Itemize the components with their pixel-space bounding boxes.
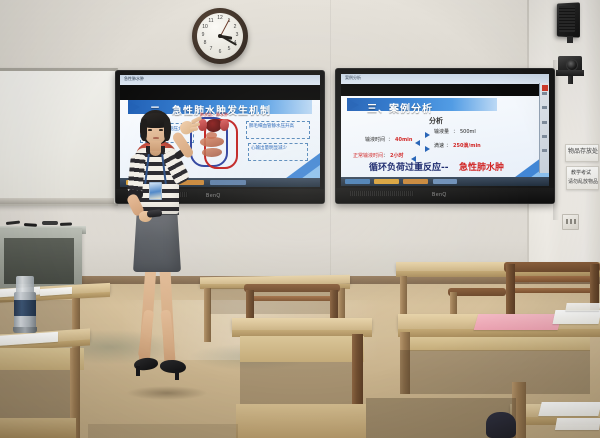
whiteboard-marker[interactable]	[60, 222, 72, 226]
outlet-slot	[570, 219, 572, 224]
id-badge	[149, 182, 162, 200]
clock-numeral: 7	[207, 47, 215, 52]
whiteboard[interactable]	[0, 68, 118, 206]
right-bullet-sep-1: ：	[446, 144, 451, 149]
clock-numeral: 12	[216, 16, 224, 21]
under-desk-shadow	[88, 424, 238, 438]
clock-numeral: 5	[225, 47, 233, 52]
desk-center-lower-top	[236, 404, 366, 438]
media-icon[interactable]	[210, 180, 246, 185]
left-display-brand: BenQ	[206, 193, 221, 199]
notice-sign-body: 教学考试 请勿乱放物品	[566, 166, 599, 190]
right-slide-subheading: 分析	[429, 118, 443, 125]
presenter	[118, 110, 208, 400]
bullet-arrow-icon	[425, 132, 430, 138]
desk-under-shadow	[0, 370, 70, 418]
slide-title-arrow-icon	[349, 100, 359, 110]
select-tool-icon[interactable]	[542, 135, 548, 138]
speaker-bracket	[567, 36, 573, 43]
slide-topbar-label: 案例分析	[345, 75, 361, 81]
paper-sheet[interactable]	[555, 418, 600, 430]
chair-leg	[450, 292, 457, 316]
chair-slat	[246, 296, 338, 301]
right-slide-title: 三、案例分析	[367, 100, 433, 115]
close-icon[interactable]	[542, 85, 548, 91]
right-bullet-label-1: 滴速	[434, 144, 444, 149]
clock-numeral: 10	[201, 25, 209, 30]
right-display-screen[interactable]: 案例分析 三、案例分析 分析 输液量 ： 500ml 滴速 ： 250滴/min…	[341, 74, 549, 186]
desk-left-lower-top	[0, 418, 76, 438]
upper-wall-band	[0, 0, 600, 68]
classroom-photo: 12 1 2 3 4 5 6 7 8 9 10 11 物品存放处 教学考试 请勿…	[0, 0, 600, 438]
start-icon[interactable]	[345, 179, 370, 184]
slide-topbar-label: 急性肺水肿	[124, 76, 144, 82]
bullet-arrow-icon	[411, 156, 416, 162]
right-display-speaker-bar	[350, 191, 414, 196]
chair-slat	[506, 276, 598, 282]
paper-sheet[interactable]	[565, 303, 600, 311]
right-left-item-sep-0: ：	[388, 138, 393, 143]
presenter-shoe-heel-left	[136, 366, 140, 376]
whiteboard-marker-tray	[0, 198, 114, 204]
presenter-floor-shadow	[126, 386, 208, 400]
desk-leg	[400, 276, 407, 318]
notice-sign-title: 物品存放处	[565, 144, 599, 162]
pen-tool-icon[interactable]	[542, 92, 548, 95]
desk-front-panel	[400, 337, 590, 351]
wall-power-outlet[interactable]	[562, 214, 579, 230]
thermos-sleeve	[14, 300, 36, 316]
presenter-shoe-right	[160, 359, 187, 374]
right-bullet-value-0: 500ml	[460, 130, 476, 135]
right-left-item-label-0: 输液时间	[365, 138, 385, 143]
browser-icon[interactable]	[374, 179, 399, 184]
sign-text: 教学考试	[571, 171, 591, 176]
right-bullet-value-1: 250滴/min	[453, 144, 481, 149]
right-slide-tool-sidebar[interactable]	[539, 83, 549, 173]
outlet-slot	[566, 219, 568, 224]
folder-icon[interactable]	[403, 179, 428, 184]
lectern-shelf-cavity	[4, 238, 74, 284]
right-left-item-label-1: 正常输液时间	[353, 154, 383, 159]
desk-edge	[398, 329, 600, 337]
eraser-tool-icon[interactable]	[542, 106, 548, 109]
wall-corner-shadow	[553, 60, 559, 220]
chair-slat	[506, 288, 598, 293]
right-left-item-sep-1: ：	[383, 154, 388, 159]
clock-numeral: 8	[201, 41, 209, 46]
right-display-brand: BenQ	[432, 192, 447, 198]
sign-text: 物品存放处	[568, 149, 598, 155]
shape-tool-icon[interactable]	[542, 121, 548, 124]
media-icon[interactable]	[433, 179, 458, 184]
right-slide: 案例分析 三、案例分析 分析 输液量 ： 500ml 滴速 ： 250滴/min…	[341, 74, 549, 186]
presenter-finger	[190, 126, 198, 131]
right-slide-conclusion-highlight: 急性肺水肿	[459, 164, 504, 173]
clock-numeral: 9	[199, 33, 207, 38]
right-left-item-value-0: 40min	[395, 138, 412, 143]
bullet-arrow-icon	[425, 146, 430, 152]
right-display-frame[interactable]: 案例分析 三、案例分析 分析 输液量 ： 500ml 滴速 ： 250滴/min…	[335, 68, 555, 204]
eraser[interactable]	[42, 221, 58, 225]
presenter-mouth	[153, 137, 159, 139]
presenter-eye-left	[148, 129, 152, 131]
presenter-eye-right	[159, 129, 163, 131]
clock-numeral: 6	[216, 50, 224, 55]
paper-sheet[interactable]	[538, 402, 600, 416]
right-slide-conclusion-prefix: 循环负荷过重反应--	[369, 164, 448, 173]
clock-center-pin	[218, 34, 222, 38]
outlet-slot	[574, 219, 576, 224]
under-desk-shadow	[366, 398, 516, 438]
speaker-grille	[559, 6, 575, 32]
chair-center	[244, 284, 340, 292]
thermos-base	[13, 327, 37, 333]
presenter-hair-side-left	[140, 119, 147, 141]
left-slide-annotation-top-right: 肺毛细血管静水压升高	[249, 125, 294, 130]
desk-under-shadow	[240, 362, 352, 406]
presenter-hair-side-right	[164, 119, 171, 141]
slide-letterbox	[341, 84, 549, 96]
presenter-shoe-heel-right	[175, 369, 179, 380]
right-bullet-sep-0: ：	[453, 130, 458, 135]
slide-letterbox	[120, 85, 320, 100]
wall-seam	[330, 0, 331, 278]
chair-right	[504, 262, 600, 272]
sign-text: 请勿乱放物品	[568, 180, 598, 185]
presenter-neck	[150, 141, 161, 151]
right-left-item-value-1: 2小时	[390, 154, 403, 159]
right-slide-taskbar[interactable]	[341, 177, 549, 186]
desk-front-panel	[240, 336, 364, 362]
clock-numeral: 11	[207, 19, 215, 24]
presenter-calf-left	[138, 310, 155, 359]
paper-stack[interactable]	[553, 310, 600, 324]
chair-leg	[506, 264, 515, 316]
save-tool-icon[interactable]	[542, 149, 548, 152]
desk-under-shadow	[400, 350, 590, 394]
clock-numeral: 3	[233, 33, 241, 38]
pink-folder[interactable]	[474, 314, 563, 330]
camera-bracket	[556, 70, 584, 76]
clock-numeral: 2	[231, 25, 239, 30]
left-slide-annotation-right: 心输出量明显减少	[251, 147, 287, 152]
bullet-arrow-icon	[415, 140, 420, 146]
right-bullet-label-0: 输液量	[434, 130, 449, 135]
